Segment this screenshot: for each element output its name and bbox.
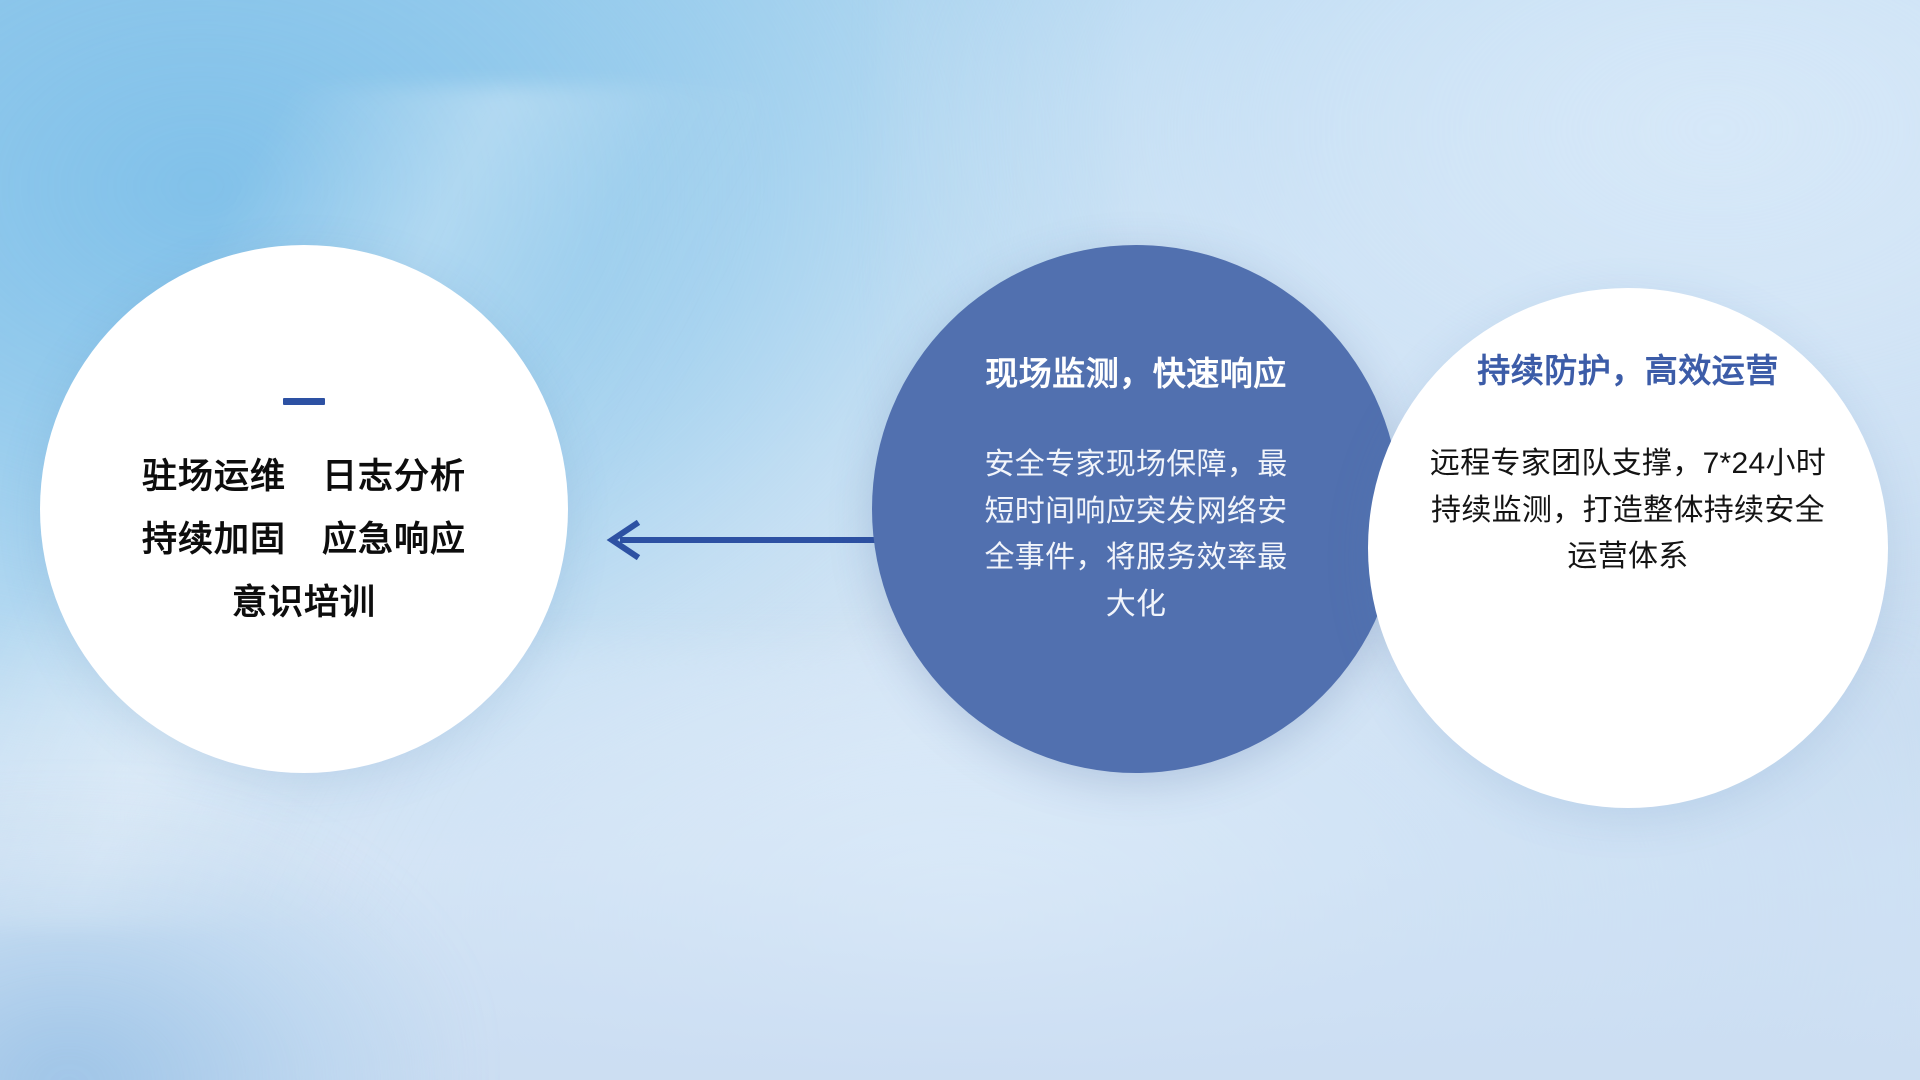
continuous-protection-circle: 持续防护，高效运营 远程专家团队支撑，7*24小时持续监测，打造整体持续安全运营… [1368,288,1888,808]
divider-rule [283,398,325,405]
capability-tag-list: 驻场运维 日志分析 持续加固 应急响应 意识培训 [142,459,466,620]
capability-tag: 持续加固 [142,522,286,557]
capability-tag: 意识培训 [232,585,376,620]
onsite-monitoring-title: 现场监测，快速响应 [985,353,1287,394]
capability-tags-circle: 驻场运维 日志分析 持续加固 应急响应 意识培训 [40,245,568,773]
arrow-left-icon [592,510,892,570]
tag-row: 驻场运维 日志分析 [142,459,466,494]
capability-tag: 驻场运维 [142,459,286,494]
onsite-monitoring-circle: 现场监测，快速响应 安全专家现场保障，最短时间响应突发网络安全事件，将服务效率最… [872,245,1400,773]
capability-tag: 应急响应 [322,522,466,557]
continuous-protection-title: 持续防护，高效运营 [1477,350,1779,391]
tag-row: 意识培训 [232,585,376,620]
continuous-protection-body: 远程专家团队支撑，7*24小时持续监测，打造整体持续安全运营体系 [1418,441,1838,581]
tag-row: 持续加固 应急响应 [142,522,466,557]
slide-canvas: 驻场运维 日志分析 持续加固 应急响应 意识培训 现场监测，快速响应 安全专家现… [0,0,1920,1080]
onsite-monitoring-body: 安全专家现场保障，最短时间响应突发网络安全事件，将服务效率最大化 [971,442,1301,628]
background-corner-shade [0,799,461,1080]
capability-tag: 日志分析 [322,459,466,494]
